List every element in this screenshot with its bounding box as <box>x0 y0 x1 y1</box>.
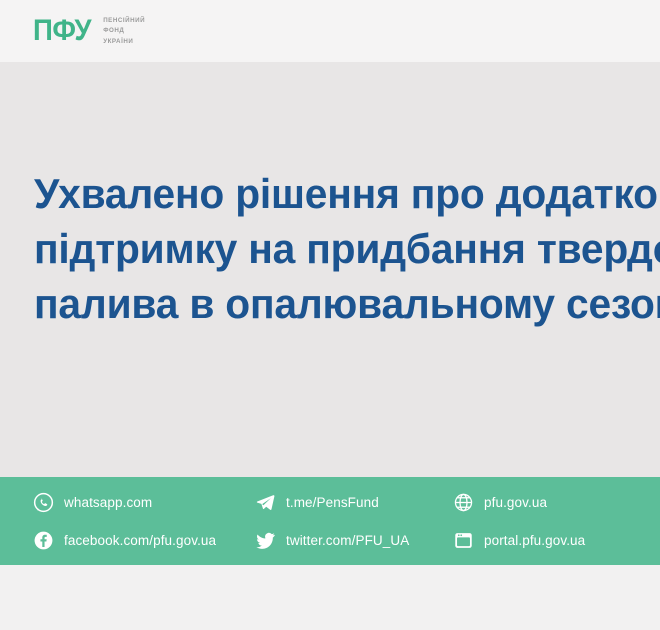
bottom-strip <box>0 565 660 630</box>
logo-subtitle: ПЕНСІЙНИЙ ФОНД УКРАЇНИ <box>103 15 145 46</box>
contact-link-telegram[interactable]: t.me/PensFund <box>255 492 453 513</box>
poster-card: ПФУ ПЕНСІЙНИЙ ФОНД УКРАЇНИ Ухвалено ріше… <box>0 0 660 630</box>
logo-subtitle-line-3: УКРАЇНИ <box>103 37 145 47</box>
pfu-logo[interactable]: ПФУ ПЕНСІЙНИЙ ФОНД УКРАЇНИ <box>33 15 145 46</box>
contact-label: pfu.gov.ua <box>484 495 547 510</box>
logo-subtitle-line-2: ФОНД <box>103 26 145 36</box>
headline-line-2: підтримку на придбання твердого <box>34 221 660 276</box>
twitter-icon <box>255 530 276 551</box>
browser-window-icon <box>453 530 474 551</box>
contact-label: twitter.com/PFU_UA <box>286 533 409 548</box>
pfu-logo-icon: ПФУ <box>33 16 91 46</box>
page-title: Ухвалено рішення про додаткову підтримку… <box>34 166 660 331</box>
globe-icon <box>453 492 474 513</box>
whatsapp-icon <box>33 492 54 513</box>
page-header: ПФУ ПЕНСІЙНИЙ ФОНД УКРАЇНИ <box>0 0 660 62</box>
contact-label: facebook.com/pfu.gov.ua <box>64 533 216 548</box>
contacts-footer: whatsapp.com t.me/PensFund <box>0 477 660 565</box>
contact-label: t.me/PensFund <box>286 495 379 510</box>
telegram-icon <box>255 492 276 513</box>
headline-line-3: палива в опалювальному сезоні <box>34 276 660 331</box>
logo-subtitle-line-1: ПЕНСІЙНИЙ <box>103 16 145 26</box>
contact-link-portal[interactable]: portal.pfu.gov.ua <box>453 530 660 551</box>
contact-link-facebook[interactable]: facebook.com/pfu.gov.ua <box>33 530 255 551</box>
main-stage: Ухвалено рішення про додаткову підтримку… <box>0 62 660 477</box>
contact-link-website[interactable]: pfu.gov.ua <box>453 492 660 513</box>
headline-line-1: Ухвалено рішення про додаткову <box>34 166 660 221</box>
contact-link-twitter[interactable]: twitter.com/PFU_UA <box>255 530 453 551</box>
facebook-icon <box>33 530 54 551</box>
contacts-grid: whatsapp.com t.me/PensFund <box>33 483 660 559</box>
contact-label: whatsapp.com <box>64 495 152 510</box>
contact-link-whatsapp[interactable]: whatsapp.com <box>33 492 255 513</box>
contact-label: portal.pfu.gov.ua <box>484 533 585 548</box>
